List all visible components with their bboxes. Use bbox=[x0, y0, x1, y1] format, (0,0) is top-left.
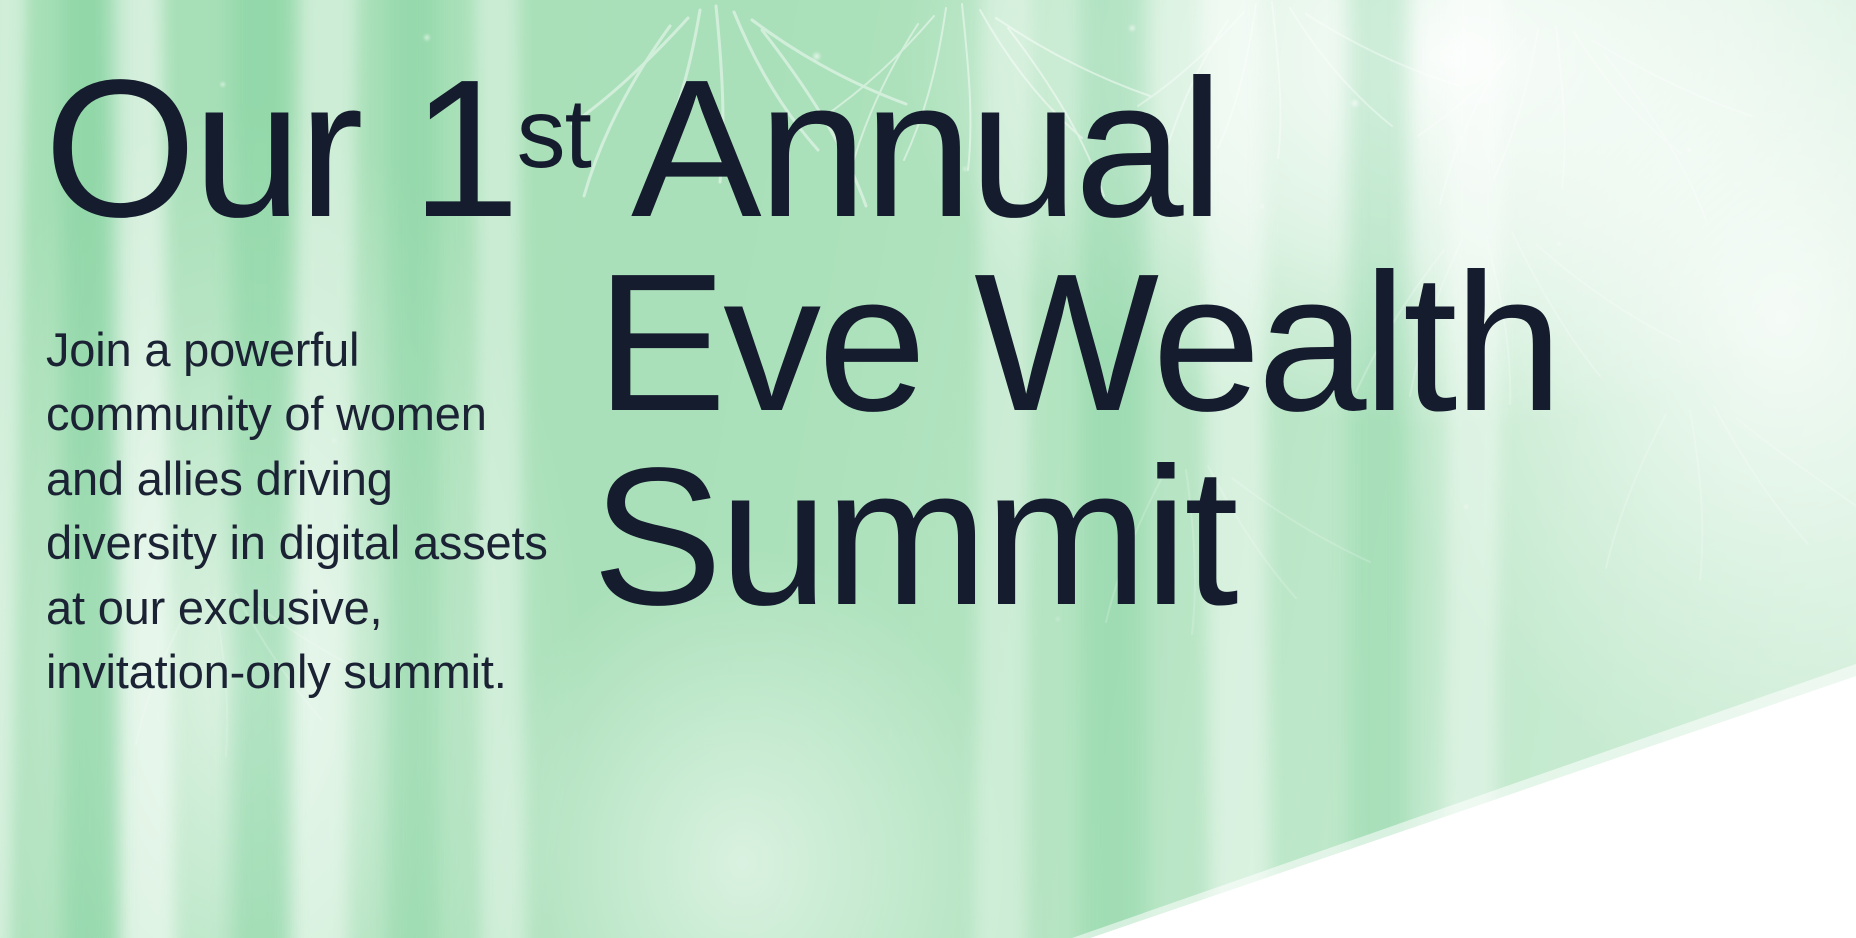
headline-line-2: Eve Wealth bbox=[596, 246, 1834, 440]
headline-line-1-suffix: Annual bbox=[591, 39, 1220, 258]
headline-line-1-prefix: Our 1 bbox=[44, 39, 517, 258]
hero-blurb: Join a powerful community of women and a… bbox=[46, 318, 566, 704]
hero-banner: Our 1st Annual Eve Wealth Summit Join a … bbox=[0, 0, 1856, 938]
headline-line-3: Summit bbox=[592, 440, 1834, 634]
ordinal-suffix-st: st bbox=[517, 78, 591, 188]
hero-content: Our 1st Annual Eve Wealth Summit Join a … bbox=[0, 0, 1856, 938]
headline-line-1: Our 1st Annual bbox=[44, 52, 1834, 246]
